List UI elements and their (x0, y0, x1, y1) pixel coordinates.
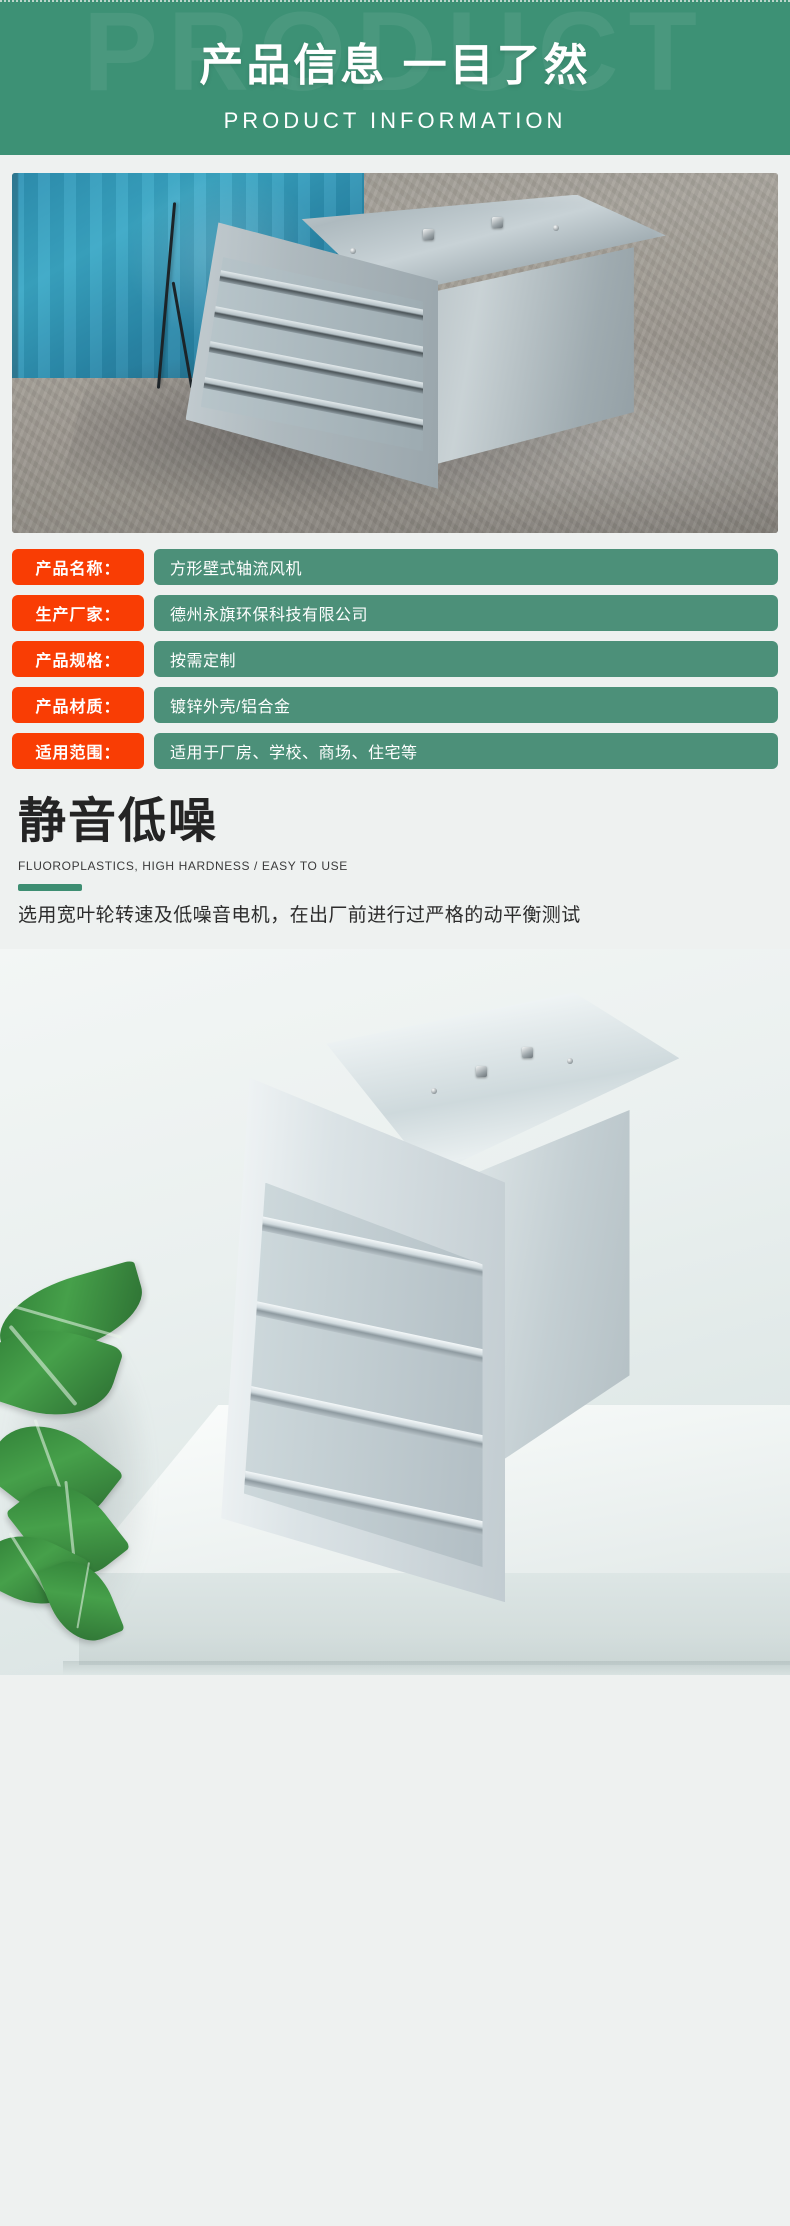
louver-blade (244, 1294, 483, 1371)
feature-english-subtitle: FLUOROPLASTICS, HIGH HARDNESS / EASY TO … (18, 859, 772, 873)
feature-heading: 静音低噪 (18, 797, 772, 847)
table-row: 产品材质： 镀锌外壳/铝合金 (12, 687, 778, 723)
page-header: PRODUCT 产品信息 一目了然 PRODUCT INFORMATION (0, 0, 790, 155)
screw-icon (567, 1058, 573, 1064)
spec-value-specification: 按需定制 (154, 641, 778, 677)
screw-icon (431, 1088, 437, 1094)
table-row: 产品名称： 方形壁式轴流风机 (12, 549, 778, 585)
bolt-icon (423, 229, 434, 240)
page-subtitle: PRODUCT INFORMATION (0, 110, 790, 132)
spec-label-material: 产品材质： (12, 687, 144, 723)
louver-blade (244, 1208, 483, 1285)
bolt-icon (522, 1047, 533, 1058)
spec-value-product-name: 方形壁式轴流风机 (154, 549, 778, 585)
louver-blade (244, 1380, 483, 1457)
spec-value-manufacturer: 德州永旗环保科技有限公司 (154, 595, 778, 631)
page-title: 产品信息 一目了然 (0, 44, 790, 88)
table-row: 适用范围： 适用于厂房、学校、商场、住宅等 (12, 733, 778, 769)
bolt-icon (492, 217, 503, 228)
screw-icon (350, 248, 356, 254)
louver-blade (244, 1466, 483, 1543)
feature-section-quiet: 静音低噪 FLUOROPLASTICS, HIGH HARDNESS / EAS… (0, 797, 790, 931)
fan-unit-primary (181, 195, 687, 505)
decorative-foliage (0, 1279, 212, 1669)
fan-louver-grille (244, 1183, 483, 1592)
product-photo-primary (12, 173, 778, 533)
spec-table: 产品名称： 方形壁式轴流风机 生产厂家： 德州永旗环保科技有限公司 产品规格： … (12, 549, 778, 769)
fan-side-panel (478, 1102, 689, 1492)
product-detail-page: PRODUCT 产品信息 一目了然 PRODUCT INFORMATION (0, 0, 790, 2226)
accent-rule-divider (18, 884, 82, 891)
table-row: 生产厂家： 德州永旗环保科技有限公司 (12, 595, 778, 631)
spec-label-product-name: 产品名称： (12, 549, 144, 585)
spec-label-manufacturer: 生产厂家： (12, 595, 144, 631)
spec-label-specification: 产品规格： (12, 641, 144, 677)
bolt-icon (476, 1066, 487, 1077)
spec-value-application: 适用于厂房、学校、商场、住宅等 (154, 733, 778, 769)
spec-label-application: 适用范围： (12, 733, 144, 769)
table-row: 产品规格： 按需定制 (12, 641, 778, 677)
spec-value-material: 镀锌外壳/铝合金 (154, 687, 778, 723)
product-photo-secondary (0, 949, 790, 1675)
fan-unit-secondary (221, 992, 679, 1602)
fan-louver-grille (201, 257, 423, 459)
screw-icon (553, 225, 559, 231)
feature-description: 选用宽叶轮转速及低噪音电机，在出厂前进行过严格的动平衡测试 (18, 901, 678, 930)
